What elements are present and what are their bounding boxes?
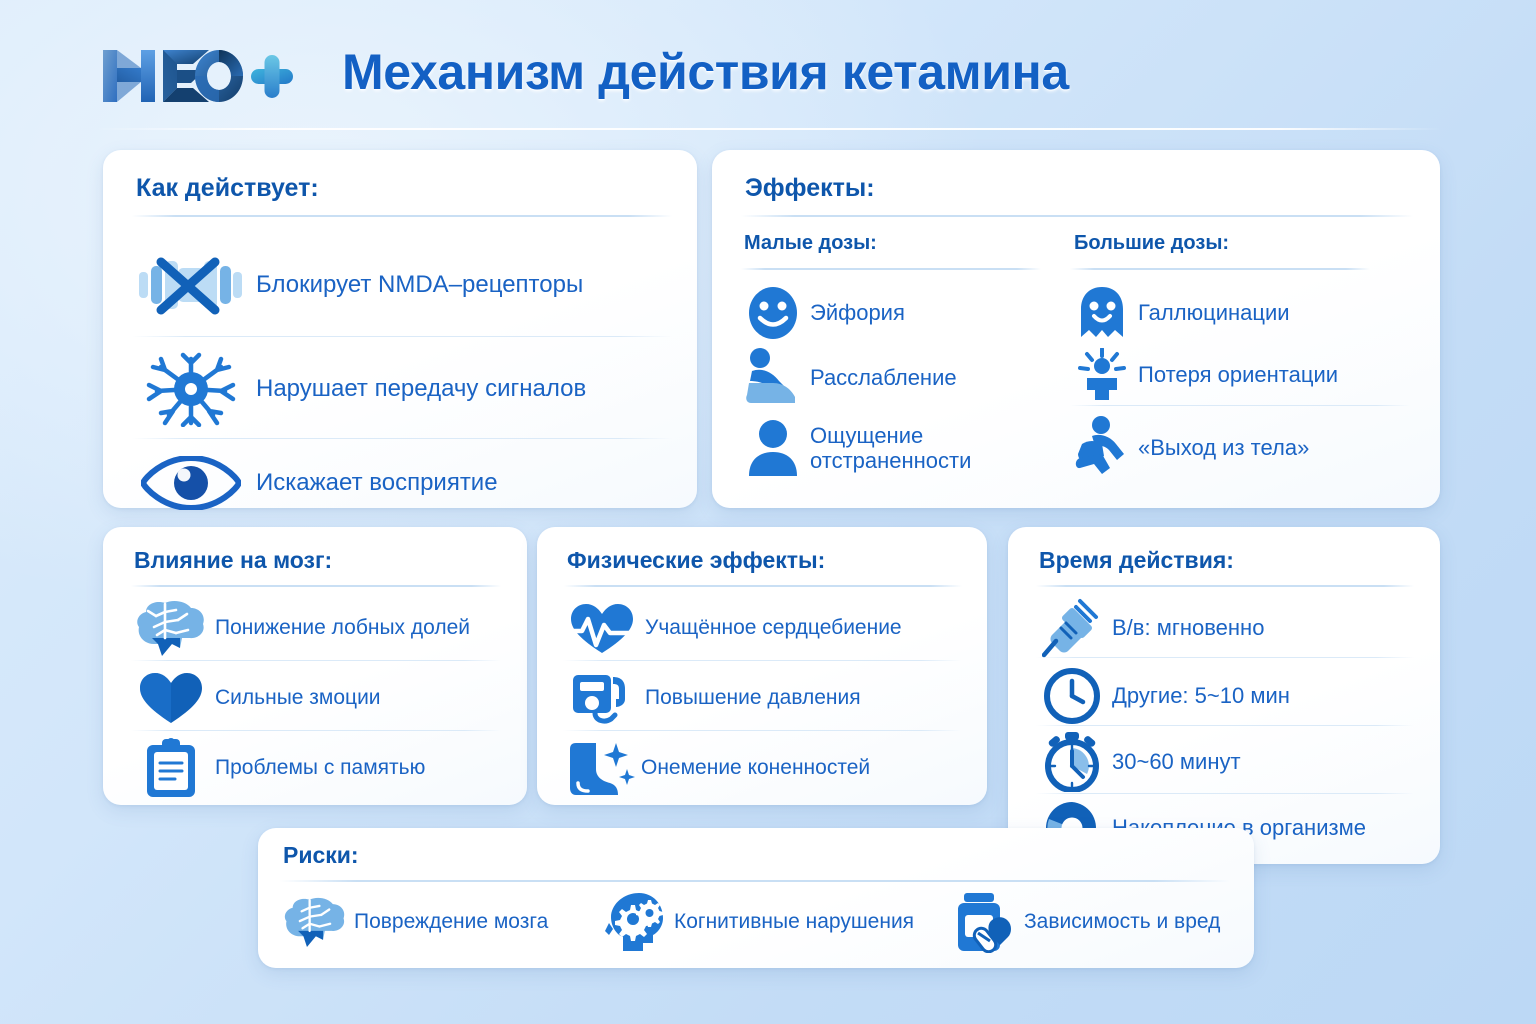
list-item[interactable]: Проблемы с памятью bbox=[131, 737, 511, 799]
header: Механизм действия кетамина bbox=[0, 0, 1536, 132]
list-item-label: Блокирует NMDA–рецепторы bbox=[256, 271, 583, 298]
heart-icon bbox=[131, 671, 211, 725]
row-divider bbox=[563, 660, 961, 661]
row-divider bbox=[563, 730, 961, 731]
list-item-label: «Выход из тела» bbox=[1138, 435, 1309, 460]
list-item-label: Эйфория bbox=[810, 300, 905, 325]
card-title: Эффекты: bbox=[745, 174, 875, 203]
list-item-label: Учащённое сердцебиение bbox=[645, 616, 902, 640]
subcolumn-title-high-dose: Большие дозы: bbox=[1074, 232, 1229, 255]
subcolumn-divider bbox=[1070, 268, 1370, 270]
list-item-label: Когнитивные нарушения bbox=[674, 910, 914, 934]
list-item-label: Нарушает передачу сигналов bbox=[256, 375, 586, 402]
eye-icon bbox=[136, 455, 246, 511]
heartbeat-icon bbox=[563, 600, 641, 656]
list-item[interactable]: Другие: 5~10 мин bbox=[1036, 665, 1426, 727]
list-item[interactable]: Зависимость и вред bbox=[948, 890, 1248, 954]
list-item[interactable]: Блокирует NMDA–рецепторы bbox=[136, 242, 676, 328]
list-item-label: Ощущение отстраненности bbox=[810, 423, 971, 473]
row-divider bbox=[131, 660, 501, 661]
card-title: Влияние на мозг: bbox=[134, 547, 332, 574]
list-item-label: Повреждение мозга bbox=[354, 910, 548, 934]
list-item-label: Зависимость и вред bbox=[1024, 910, 1220, 934]
brain-damage-icon bbox=[278, 891, 352, 953]
list-item[interactable]: Нарушает передачу сигналов bbox=[136, 346, 676, 432]
list-item[interactable]: Галлюцинации bbox=[1074, 282, 1414, 344]
list-item[interactable]: Сильные змоции bbox=[131, 667, 511, 729]
title-divider bbox=[741, 215, 1413, 217]
list-item-label: 30~60 минут bbox=[1112, 749, 1241, 774]
list-item-label: Понижение лобных долей bbox=[215, 616, 470, 640]
row-divider bbox=[1070, 405, 1410, 406]
card-brain-impact: Влияние на мозг: Понижение лобных долей bbox=[103, 527, 527, 805]
subcolumn-title-low-dose: Малые дозы: bbox=[744, 232, 877, 255]
row-divider bbox=[132, 438, 672, 439]
clipboard-icon bbox=[131, 737, 211, 799]
list-item[interactable]: «Выход из тела» bbox=[1074, 412, 1414, 484]
clock-icon bbox=[1036, 667, 1108, 725]
row-divider bbox=[131, 730, 501, 731]
list-item[interactable]: Повреждение мозга bbox=[278, 890, 598, 954]
title-divider bbox=[1036, 585, 1414, 587]
list-item-label: В/в: мгновенно bbox=[1112, 615, 1264, 640]
list-item-label: Онемение коненностей bbox=[641, 756, 870, 780]
list-item-label: Проблемы с памятью bbox=[215, 756, 425, 780]
list-item[interactable]: В/в: мгновенно bbox=[1036, 597, 1426, 659]
card-onset-duration: Время действия: bbox=[1008, 527, 1440, 864]
smiley-face-icon bbox=[744, 284, 802, 342]
list-item[interactable]: Учащённое сердцебиение bbox=[563, 597, 973, 659]
blocked-receptor-icon bbox=[136, 250, 246, 320]
list-item[interactable]: Ощущение отстраненности bbox=[744, 412, 1054, 484]
dizzy-person-icon bbox=[1074, 347, 1130, 403]
list-item[interactable]: Понижение лобных долей bbox=[131, 597, 511, 659]
subcolumn-divider bbox=[741, 268, 1041, 270]
card-risks: Риски: Повреждение мозга bbox=[258, 828, 1254, 968]
row-divider bbox=[132, 336, 672, 337]
syringe-icon bbox=[1036, 597, 1108, 659]
list-item[interactable]: Эйфория bbox=[744, 282, 1054, 344]
list-item[interactable]: Повышение давления bbox=[563, 667, 973, 729]
list-item-label: Искажает восприятие bbox=[256, 469, 498, 496]
header-divider bbox=[96, 128, 1441, 130]
ghost-icon bbox=[1074, 284, 1130, 342]
list-item[interactable]: Искажает восприятие bbox=[136, 446, 676, 520]
list-item-label: Сильные змоции bbox=[215, 686, 381, 710]
list-item[interactable]: Когнитивные нарушения bbox=[598, 890, 948, 954]
card-how-it-works: Как действует: Блокир bbox=[103, 150, 697, 508]
numb-limb-boot-icon bbox=[563, 738, 641, 798]
list-item-label: Расслабление bbox=[810, 365, 957, 390]
row-divider bbox=[1036, 793, 1414, 794]
list-item-label: Повышение давления bbox=[645, 686, 861, 710]
title-divider bbox=[131, 585, 501, 587]
list-item[interactable]: Потеря ориентации bbox=[1074, 344, 1414, 406]
card-effects: Эффекты: Малые дозы: Эйфория bbox=[712, 150, 1440, 508]
list-item-label: Потеря ориентации bbox=[1138, 362, 1338, 387]
neuron-icon bbox=[136, 351, 246, 427]
head-gears-icon bbox=[598, 890, 672, 954]
list-item-label: Галлюцинации bbox=[1138, 300, 1290, 325]
card-title: Риски: bbox=[283, 842, 359, 869]
title-divider bbox=[564, 585, 962, 587]
list-item[interactable]: 30~60 минут bbox=[1036, 731, 1426, 793]
brain-icon bbox=[131, 599, 211, 657]
list-item[interactable]: Онемение коненностей bbox=[563, 737, 973, 799]
row-divider bbox=[1036, 725, 1414, 726]
pill-bottle-icon bbox=[948, 890, 1022, 954]
list-item-label: Другие: 5~10 мин bbox=[1112, 683, 1290, 708]
row-divider bbox=[1036, 657, 1414, 658]
card-title: Как действует: bbox=[136, 174, 319, 203]
stopwatch-icon bbox=[1036, 731, 1108, 793]
card-title: Время действия: bbox=[1039, 547, 1234, 574]
title-divider bbox=[280, 880, 1230, 882]
blood-pressure-icon bbox=[563, 668, 641, 728]
page-title: Механизм действия кетамина bbox=[342, 43, 1069, 101]
title-divider bbox=[132, 215, 672, 217]
floating-person-icon bbox=[1074, 415, 1130, 481]
reclining-person-icon bbox=[744, 346, 802, 410]
person-bust-icon bbox=[744, 417, 802, 479]
card-title: Физические эффекты: bbox=[567, 547, 825, 574]
neo-plus-logo bbox=[93, 40, 293, 112]
list-item[interactable]: Расслабление bbox=[744, 344, 1054, 412]
card-physical-effects: Физические эффекты: Учащённое сердцебиен… bbox=[537, 527, 987, 805]
infographic-root: Механизм действия кетамина Как действует… bbox=[0, 0, 1536, 1024]
